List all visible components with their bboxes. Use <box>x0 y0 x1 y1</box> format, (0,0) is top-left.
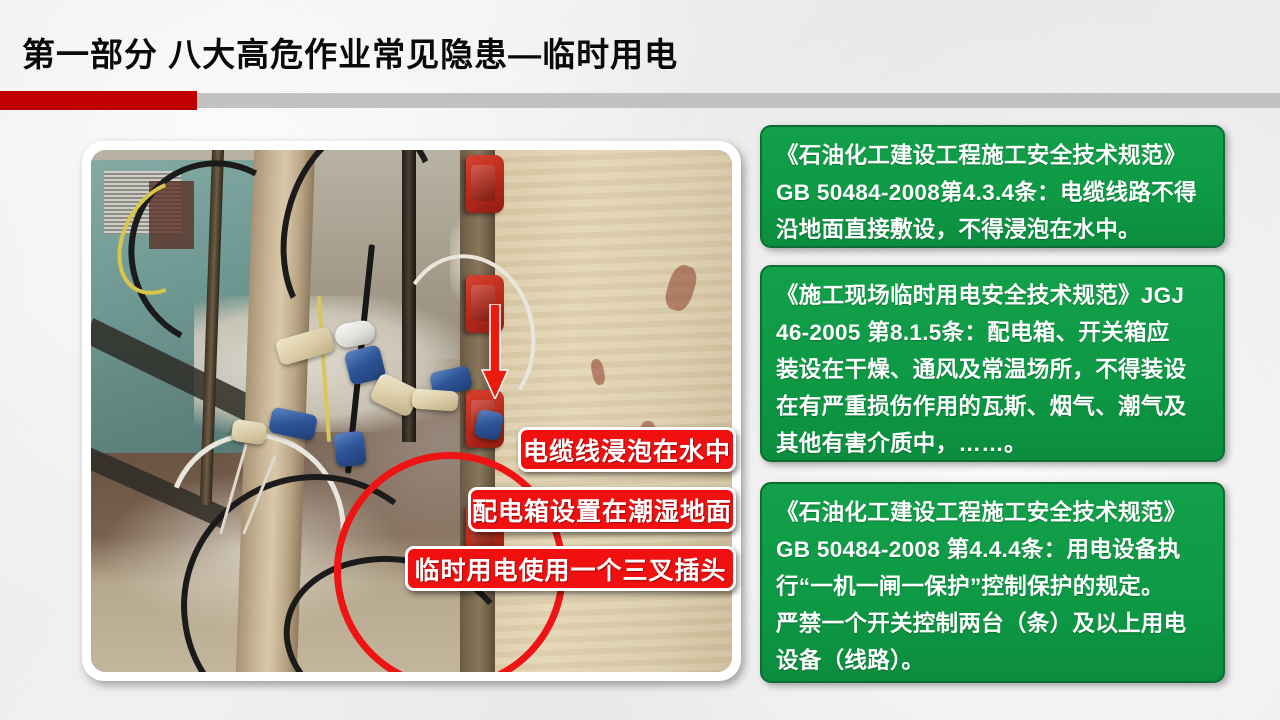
site-photo <box>91 150 732 672</box>
regulation-line: 《施工现场临时用电安全技术规范》JGJ <box>776 277 1209 314</box>
regulation-line: 装设在干燥、通风及常温场所，不得装设 <box>776 351 1209 388</box>
regulation-line: GB 50484-2008 第4.4.4条：用电设备执 <box>776 531 1209 568</box>
photo-red-socket-1 <box>466 155 504 213</box>
regulation-line: 《石油化工建设工程施工安全技术规范》 <box>776 137 1209 174</box>
regulation-line: 46-2005 第8.1.5条：配电箱、开关箱应 <box>776 314 1209 351</box>
slide-canvas: 第一部分 八大高危作业常见隐患—临时用电 <box>0 0 1280 720</box>
regulation-line: 严禁一个开关控制两台（条）及以上用电 <box>776 605 1209 642</box>
photo-plug-blue-5 <box>473 409 503 441</box>
callout-box-on-wet-ground: 配电箱设置在潮湿地面 <box>468 487 736 532</box>
callout-three-prong-plug: 临时用电使用一个三叉插头 <box>405 546 736 591</box>
regulation-box-gb-50484-4-3-4: 《石油化工建设工程施工安全技术规范》 GB 50484-2008第4.3.4条：… <box>760 125 1225 248</box>
callout-cable-soaked: 电缆线浸泡在水中 <box>518 427 736 472</box>
photo-plug-blue-3 <box>333 430 366 467</box>
photo-plug-cream-4 <box>411 389 458 412</box>
page-title: 第一部分 八大高危作业常见隐患—临时用电 <box>22 28 678 76</box>
regulation-line: 在有严重损伤作用的瓦斯、烟气、潮气及 <box>776 388 1209 425</box>
site-photo-frame <box>82 141 741 681</box>
regulation-box-gb-50484-4-4-4: 《石油化工建设工程施工安全技术规范》 GB 50484-2008 第4.4.4条… <box>760 482 1225 683</box>
regulation-box-jgj-46-8-1-5: 《施工现场临时用电安全技术规范》JGJ 46-2005 第8.1.5条：配电箱、… <box>760 265 1225 462</box>
regulation-line: 设备（线路）。 <box>776 642 1209 679</box>
red-down-arrow-icon <box>481 304 509 399</box>
regulation-line: 行“一机一闸一保护”控制保护的规定。 <box>776 568 1209 605</box>
regulation-line: GB 50484-2008第4.3.4条：电缆线路不得 <box>776 174 1209 211</box>
regulation-line: 其他有害介质中，……。 <box>776 425 1209 462</box>
regulation-line: 沿地面直接敷设，不得浸泡在水中。 <box>776 211 1209 248</box>
regulation-line: 《石油化工建设工程施工安全技术规范》 <box>776 494 1209 531</box>
divider-bar-red <box>0 91 197 110</box>
